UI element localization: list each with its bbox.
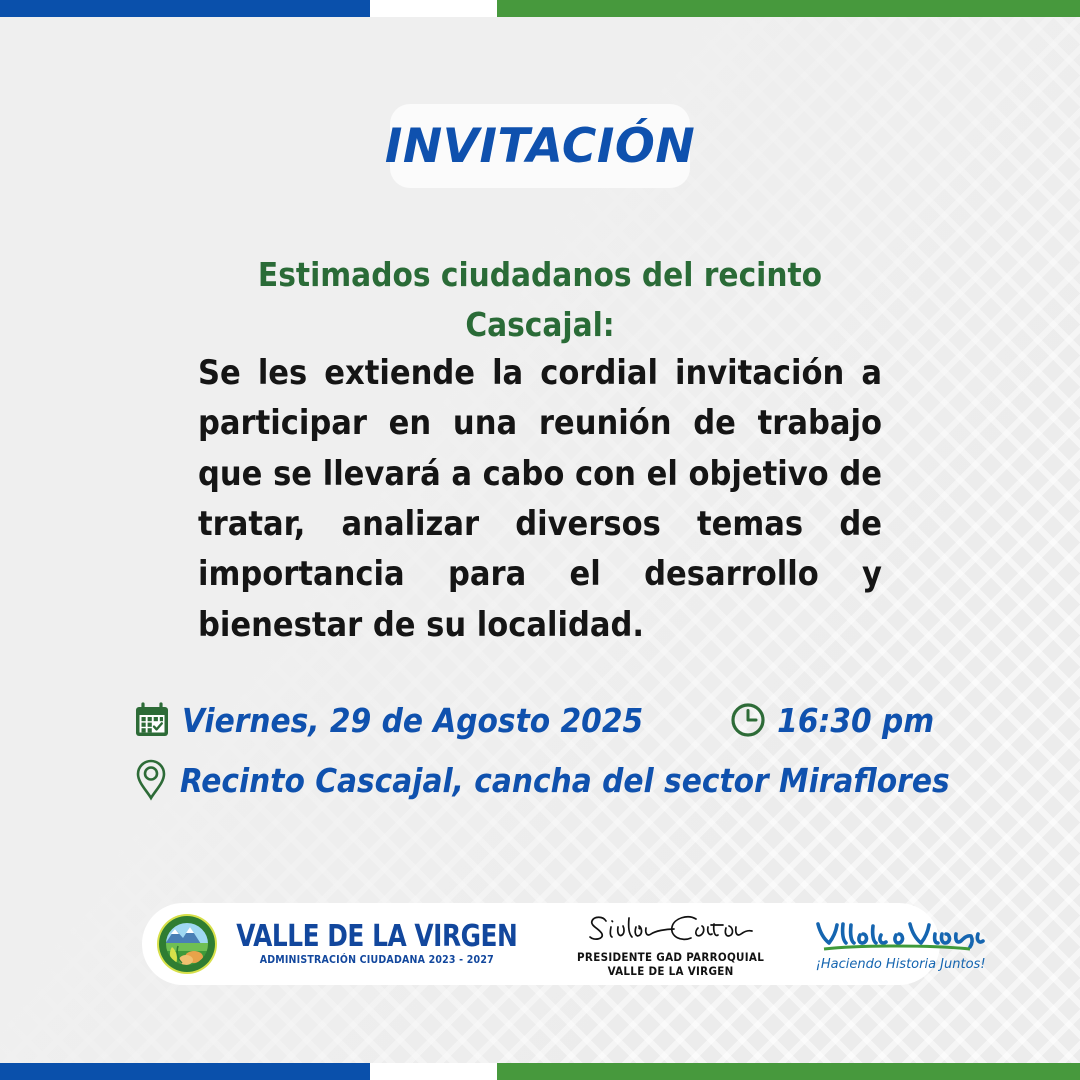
bottom-bar-green-segment — [497, 1063, 1080, 1080]
footer-logo-bar: VALLE DE LA VIRGEN ADMINISTRACIÓN CIUDAD… — [142, 903, 940, 985]
bottom-bar-white-gap — [370, 1063, 497, 1080]
signature-mark — [576, 910, 766, 950]
top-decorative-bar — [0, 0, 1080, 17]
brand-logo-group: ¡Haciendo Historia Juntos! — [810, 903, 992, 985]
calendar-icon — [132, 700, 172, 740]
location-pin-icon — [132, 758, 170, 802]
signature-title-line1: PRESIDENTE GAD PARROQUIAL — [577, 950, 764, 964]
bottom-bar-blue-segment — [0, 1063, 370, 1080]
gad-logo-group: VALLE DE LA VIRGEN ADMINISTRACIÓN CIUDAD… — [156, 903, 530, 985]
gad-logo-subtitle: ADMINISTRACIÓN CIUDADANA 2023 - 2027 — [260, 955, 494, 966]
invitation-poster: INVITACIÓN Estimados ciudadanos del reci… — [0, 0, 1080, 1080]
detail-item-place: Recinto Cascajal, cancha del sector Mira… — [132, 758, 950, 802]
top-bar-green-segment — [497, 0, 1080, 17]
clock-icon — [729, 701, 767, 739]
body-paragraph: Se les extiende la cordial invitación a … — [198, 348, 882, 650]
signature-group: PRESIDENTE GAD PARROQUIAL VALLE DE LA VI… — [576, 903, 766, 985]
detail-row-date-time: Viernes, 29 de Agosto 2025 16:30 pm — [132, 700, 962, 740]
page-title: INVITACIÓN — [385, 119, 695, 174]
top-bar-white-gap — [370, 0, 497, 17]
greeting-text: Estimados ciudadanos del recinto Cascaja… — [180, 250, 900, 350]
bottom-decorative-bar — [0, 1063, 1080, 1080]
detail-row-place: Recinto Cascajal, cancha del sector Mira… — [132, 758, 962, 802]
detail-item-time: 16:30 pm — [729, 701, 934, 740]
event-details: Viernes, 29 de Agosto 2025 16:30 pm Reci… — [132, 700, 962, 802]
event-date: Viernes, 29 de Agosto 2025 — [182, 701, 643, 740]
signature-title-line2: VALLE DE LA VIRGEN — [608, 964, 734, 978]
title-pill: INVITACIÓN — [390, 104, 690, 188]
top-bar-blue-segment — [0, 0, 370, 17]
signature-title: PRESIDENTE GAD PARROQUIAL VALLE DE LA VI… — [577, 951, 764, 978]
event-time: 16:30 pm — [777, 701, 934, 740]
detail-item-date: Viernes, 29 de Agosto 2025 — [132, 700, 643, 740]
event-place: Recinto Cascajal, cancha del sector Mira… — [180, 761, 950, 800]
valle-de-la-virgen-crest-icon — [156, 913, 218, 975]
gad-logo-name: VALLE DE LA VIRGEN — [236, 922, 517, 952]
gad-logo-text: VALLE DE LA VIRGEN ADMINISTRACIÓN CIUDAD… — [224, 922, 530, 966]
brand-script-mark — [810, 916, 992, 956]
brand-tagline: ¡Haciendo Historia Juntos! — [816, 957, 986, 972]
